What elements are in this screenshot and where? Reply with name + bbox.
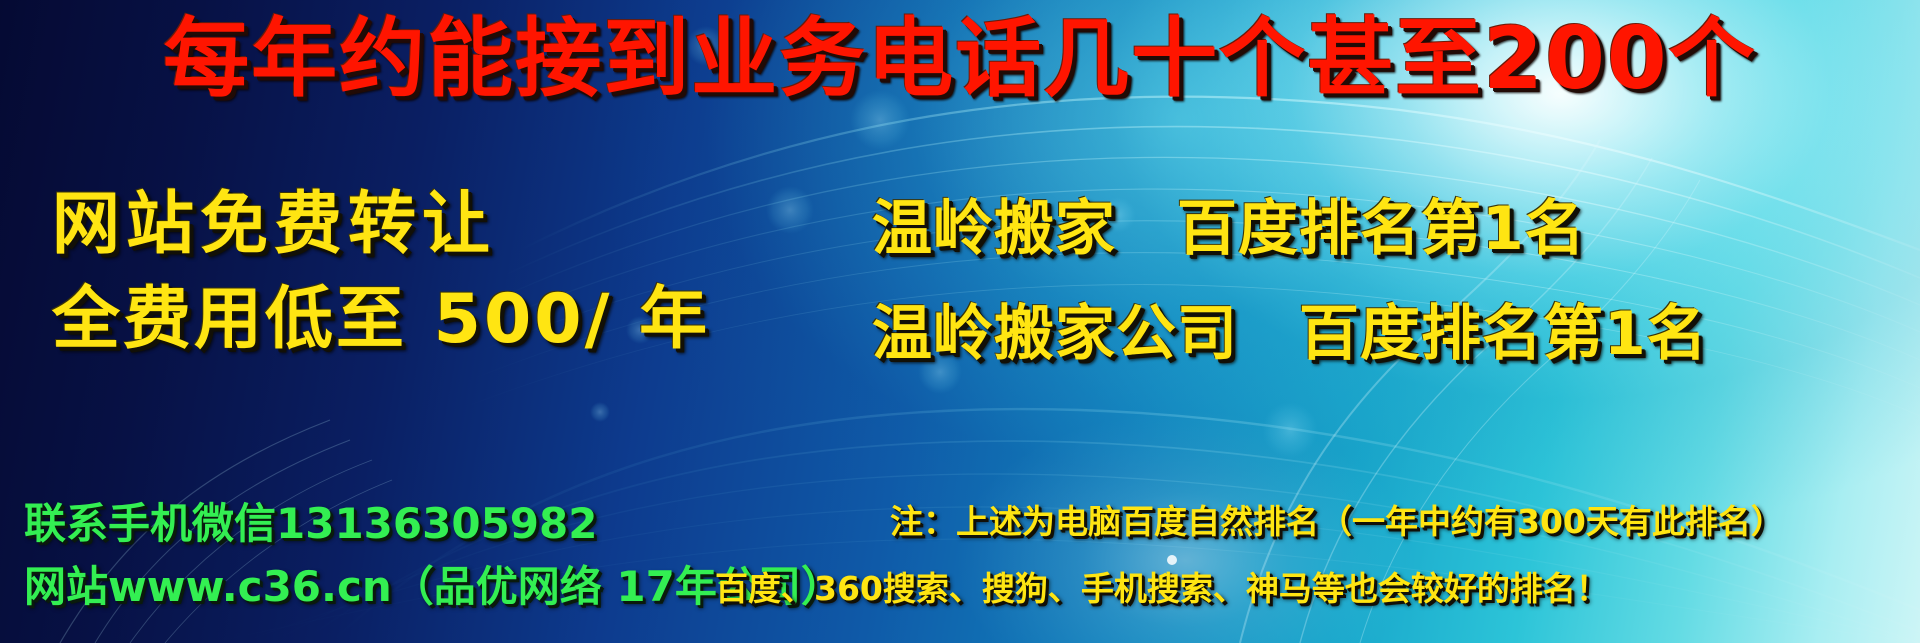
note-line-2-text: 百度、360搜索、搜狗、手机搜索、神马等也会较好的排名！ — [715, 562, 1609, 610]
contact-phone-text: 联系手机微信13136305982 — [24, 490, 597, 551]
headline-text: 每年约能接到业务电话几十个甚至200个 — [0, 12, 1920, 107]
promo-banner: 每年约能接到业务电话几十个甚至200个 网站免费转让 全费用低至 500/ 年 … — [0, 0, 1920, 643]
note-line-1-text: 注：上述为电脑百度自然排名（一年中约有300天有此排名） — [890, 495, 1784, 543]
ranking-keyword-2-text: 温岭搬家公司 百度排名第1名 — [872, 285, 1708, 372]
offer-price-text: 全费用低至 500/ 年 — [52, 263, 710, 362]
offer-transfer-text: 网站免费转让 — [52, 168, 496, 267]
ranking-keyword-1-text: 温岭搬家 百度排名第1名 — [872, 180, 1586, 267]
